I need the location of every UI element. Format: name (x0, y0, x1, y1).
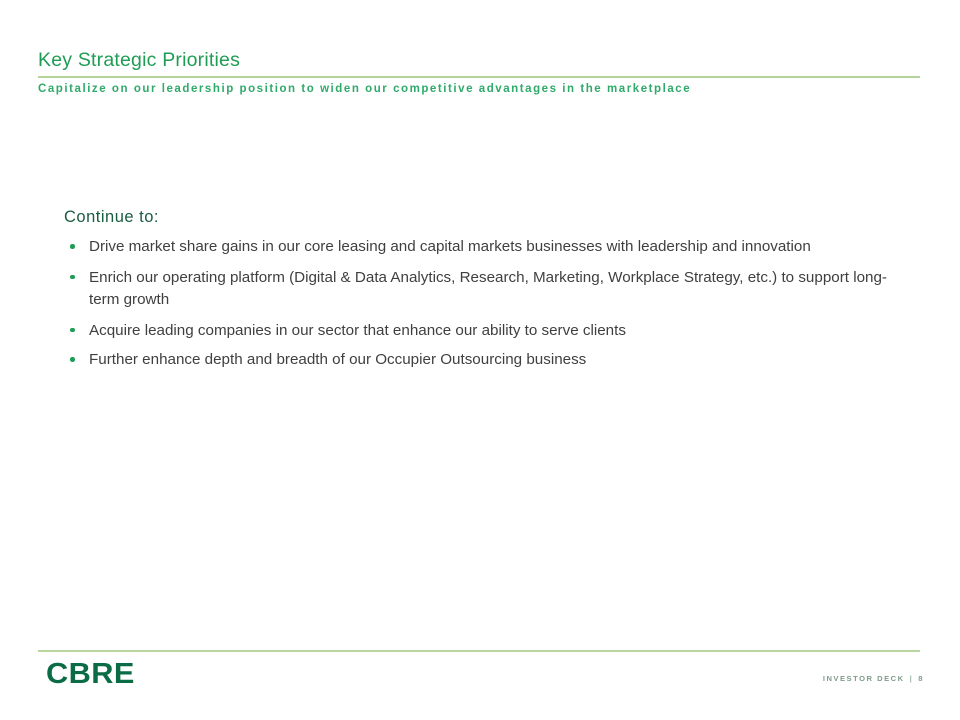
priorities-list: Drive market share gains in our core lea… (64, 236, 924, 372)
list-item-label: Enrich our operating platform (Digital &… (89, 269, 887, 309)
list-item: Further enhance depth and breadth of our… (64, 349, 904, 372)
page-number: 8 (918, 674, 924, 683)
bullet-dot-icon (70, 328, 75, 333)
footer-divider (38, 650, 920, 652)
bullet-dot-icon (70, 357, 75, 362)
list-item: Drive market share gains in our core lea… (64, 236, 904, 259)
header-divider (38, 76, 920, 78)
list-item: Enrich our operating platform (Digital &… (64, 267, 904, 312)
meta-separator: | (910, 674, 914, 683)
footer-meta: INVESTOR DECK | 8 (823, 674, 924, 683)
list-item-label: Drive market share gains in our core lea… (89, 238, 811, 255)
list-item: Acquire leading companies in our sector … (64, 320, 904, 343)
deck-label: INVESTOR DECK (823, 674, 905, 683)
list-item-label: Further enhance depth and breadth of our… (89, 351, 586, 368)
slide-canvas: Key Strategic Priorities Capitalize on o… (0, 0, 960, 720)
list-item-label: Acquire leading companies in our sector … (89, 322, 626, 339)
page-title: Key Strategic Priorities (38, 48, 920, 72)
cbre-logo: CBRE (46, 658, 135, 691)
slide-header: Key Strategic Priorities (38, 48, 920, 72)
lead-in-heading: Continue to: (64, 206, 924, 228)
bullet-dot-icon (70, 275, 75, 280)
page-subtitle: Capitalize on our leadership position to… (38, 80, 691, 98)
content-block: Continue to: Drive market share gains in… (64, 206, 924, 379)
bullet-dot-icon (70, 244, 75, 249)
